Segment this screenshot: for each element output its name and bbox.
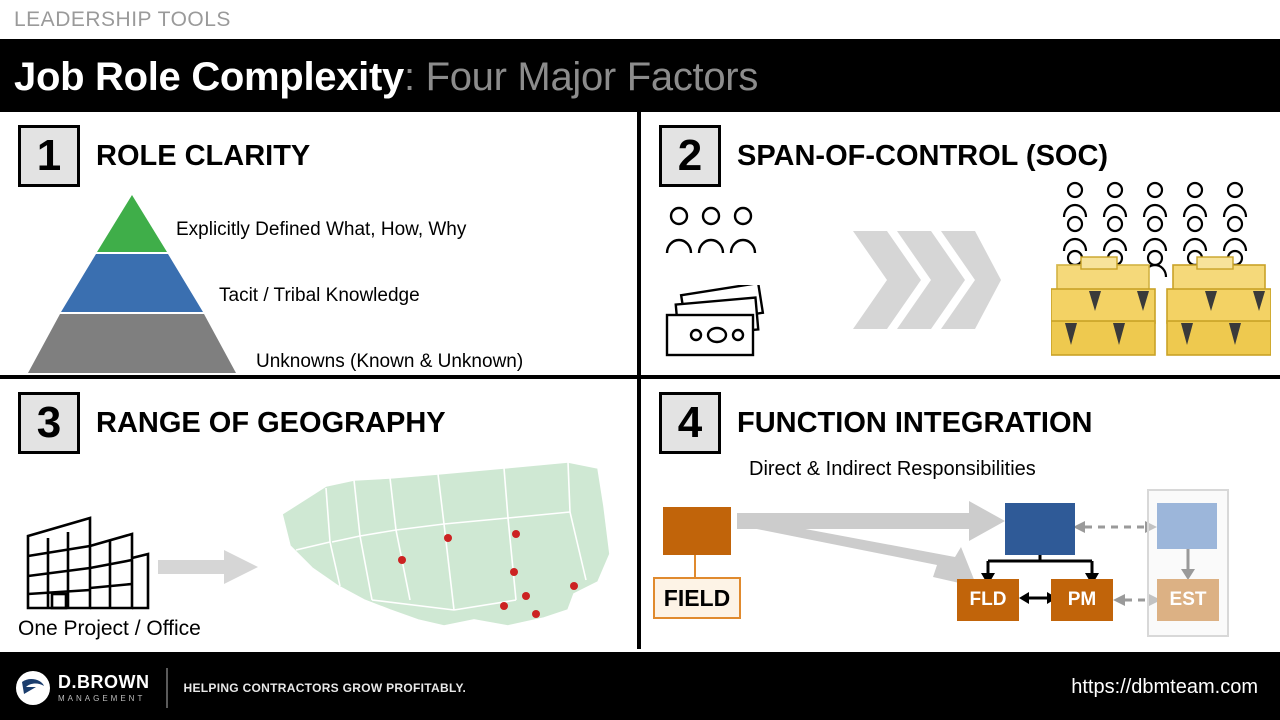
quadrant-3-number: 3 (18, 392, 80, 454)
quadrant-4-number: 4 (659, 392, 721, 454)
quadrant-role-clarity: 1 ROLE CLARITY Explicitly Defined What, … (0, 112, 637, 375)
orange-block (663, 507, 731, 555)
gold-crates-icon (1051, 249, 1271, 367)
footer-divider (166, 668, 168, 708)
page-title: Job Role Complexity (14, 55, 404, 100)
quadrant-grid: 1 ROLE CLARITY Explicitly Defined What, … (0, 112, 1280, 649)
page-subtitle: : Four Major Factors (404, 55, 758, 100)
geography-illustration: One Project / Office (0, 454, 637, 649)
title-bar: Job Role Complexity : Four Major Factors (0, 42, 1280, 112)
field-box: FIELD (653, 577, 741, 619)
quadrant-3-header: 3 RANGE OF GEOGRAPHY (0, 379, 637, 454)
quadrant-2-number: 2 (659, 125, 721, 187)
quadrant-range-of-geography: 3 RANGE OF GEOGRAPHY (0, 379, 637, 649)
footer-bar: D.BROWN MANAGEMENT HELPING CONTRACTORS G… (0, 652, 1280, 720)
est-down-arrow (1177, 547, 1199, 581)
quadrant-4-header: 4 FUNCTION INTEGRATION (641, 379, 1280, 454)
geography-caption: One Project / Office (18, 617, 201, 641)
quadrant-4-subtitle: Direct & Indirect Responsibilities (749, 458, 1280, 481)
people-small-group-icon (663, 205, 773, 257)
quadrant-1-title: ROLE CLARITY (96, 140, 310, 173)
function-integration-diagram: FIELD FLD PM EST (641, 481, 1280, 649)
pyramid-diagram: Explicitly Defined What, How, Why Tacit … (0, 187, 637, 372)
quadrant-1-number: 1 (18, 125, 80, 187)
pyramid-label-middle: Tacit / Tribal Knowledge (219, 285, 420, 307)
us-map (268, 450, 624, 649)
footer-tagline: HELPING CONTRACTORS GROW PROFITABLY. (184, 681, 467, 695)
blue-block (1005, 503, 1075, 555)
pyramid-label-bottom: Unknowns (Known & Unknown) (256, 351, 523, 373)
pyramid-label-top: Explicitly Defined What, How, Why (176, 219, 466, 241)
logo-secondary-text: MANAGEMENT (58, 694, 150, 703)
quadrant-span-of-control: 2 SPAN-OF-CONTROL (SOC) (641, 112, 1280, 375)
swoosh-glyph (20, 678, 46, 698)
quadrant-function-integration: 4 FUNCTION INTEGRATION Direct & Indirect… (641, 379, 1280, 649)
eyebrow-label: LEADERSHIP TOOLS (14, 8, 231, 32)
est-block: EST (1157, 579, 1219, 621)
footer-website[interactable]: https://dbmteam.com (1071, 676, 1280, 699)
cash-bills-icon (661, 285, 771, 363)
quadrant-2-header: 2 SPAN-OF-CONTROL (SOC) (641, 112, 1280, 187)
quadrant-3-title: RANGE OF GEOGRAPHY (96, 407, 446, 440)
logo-swoosh-icon (16, 671, 50, 705)
quadrant-1-header: 1 ROLE CLARITY (0, 112, 637, 187)
arrow-right-icon (158, 550, 258, 584)
quadrant-4-title: FUNCTION INTEGRATION (737, 407, 1093, 440)
logo-primary-text: D.BROWN (58, 673, 150, 691)
fld-block: FLD (957, 579, 1019, 621)
light-blue-block (1157, 503, 1217, 549)
quadrant-2-title: SPAN-OF-CONTROL (SOC) (737, 140, 1108, 173)
eyebrow-bar: LEADERSHIP TOOLS (0, 0, 1280, 42)
pm-block: PM (1051, 579, 1113, 621)
office-building-icon (22, 512, 152, 610)
chevrons-right-icon (853, 225, 1001, 335)
soc-illustration (641, 187, 1280, 375)
brand-logo[interactable]: D.BROWN MANAGEMENT (0, 671, 150, 705)
